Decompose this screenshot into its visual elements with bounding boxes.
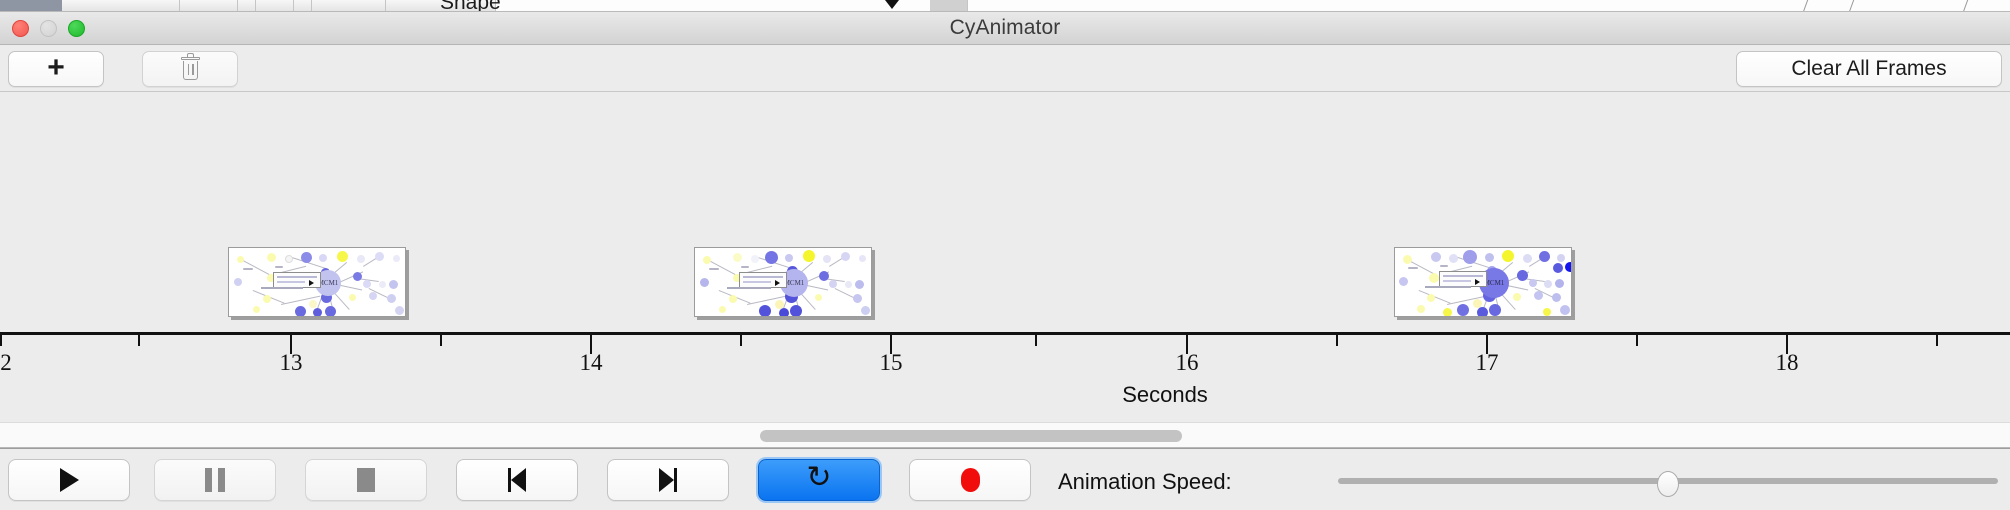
pause-button[interactable] xyxy=(154,459,276,501)
record-button[interactable] xyxy=(909,459,1031,501)
background-window-chrome xyxy=(0,0,62,11)
timeline-frame-thumbnail[interactable]: MCM1 xyxy=(694,247,872,317)
axis-tick-minor xyxy=(0,335,2,346)
playback-controls: ↻ Animation Speed: xyxy=(0,448,2010,510)
record-icon xyxy=(961,468,980,492)
network-thumbnail: MCM1 xyxy=(1395,248,1571,316)
axis-tick-minor xyxy=(1636,335,1638,346)
toolbar: + Clear All Frames xyxy=(0,45,2010,92)
skip-forward-icon xyxy=(659,468,677,492)
network-thumbnail: MCM1 xyxy=(229,248,405,316)
background-tab xyxy=(312,0,386,12)
animation-speed-label: Animation Speed: xyxy=(1058,469,1232,495)
trash-icon xyxy=(181,57,200,81)
axis-label: 13 xyxy=(280,350,303,376)
delete-frame-button[interactable] xyxy=(142,51,238,87)
stop-icon xyxy=(357,468,375,492)
timeline-axis-line xyxy=(0,332,2010,335)
plus-icon: + xyxy=(47,53,65,83)
background-tab xyxy=(62,0,180,12)
background-tab xyxy=(930,0,968,12)
axis-tick-minor xyxy=(138,335,140,346)
cyanimator-window: CyAnimator + Clear All Frames xyxy=(0,12,2010,510)
background-tab xyxy=(256,0,294,12)
clear-all-frames-button[interactable]: Clear All Frames xyxy=(1736,51,2002,87)
axis-label: 2 xyxy=(0,350,12,376)
axis-label: 15 xyxy=(880,350,903,376)
play-button[interactable] xyxy=(8,459,130,501)
axis-title: Seconds xyxy=(1122,382,1208,408)
axis-tick-minor xyxy=(740,335,742,346)
minimize-button[interactable] xyxy=(40,20,57,37)
play-icon xyxy=(60,468,79,492)
pause-icon xyxy=(205,468,225,492)
background-divider xyxy=(1800,0,1812,12)
stop-button[interactable] xyxy=(305,459,427,501)
background-caret-icon xyxy=(885,0,899,9)
window-controls xyxy=(12,20,85,37)
background-divider xyxy=(1960,0,1972,12)
axis-tick-minor xyxy=(1936,335,1938,346)
network-thumbnail: MCM1 xyxy=(695,248,871,316)
axis-tick-minor xyxy=(440,335,442,346)
background-tab xyxy=(180,0,238,12)
next-frame-button[interactable] xyxy=(607,459,729,501)
timeline-horizontal-scrollbar[interactable] xyxy=(0,422,2010,448)
background-desktop-strip: Shape xyxy=(0,0,2010,12)
axis-tick-minor xyxy=(1035,335,1037,346)
loop-button[interactable]: ↻ xyxy=(758,459,880,501)
previous-frame-button[interactable] xyxy=(456,459,578,501)
background-tab xyxy=(294,0,312,12)
skip-backward-icon xyxy=(508,468,526,492)
axis-label: 16 xyxy=(1176,350,1199,376)
timeline-panel[interactable]: MCM1 xyxy=(0,92,2010,422)
add-frame-button[interactable]: + xyxy=(8,51,104,87)
titlebar: CyAnimator xyxy=(0,12,2010,45)
close-button[interactable] xyxy=(12,20,29,37)
window-title: CyAnimator xyxy=(950,16,1061,40)
timeline-frame-thumbnail[interactable]: MCM1 xyxy=(228,247,406,317)
axis-label: 18 xyxy=(1776,350,1799,376)
background-shape-label: Shape xyxy=(440,0,501,12)
maximize-button[interactable] xyxy=(68,20,85,37)
scrollbar-thumb[interactable] xyxy=(760,430,1182,442)
background-divider xyxy=(1846,0,1858,12)
background-tab xyxy=(238,0,256,12)
axis-label: 14 xyxy=(580,350,603,376)
timeline-frame-thumbnail[interactable]: MCM1 xyxy=(1394,247,1572,317)
loop-icon: ↻ xyxy=(806,463,831,493)
animation-speed-slider-thumb[interactable] xyxy=(1657,471,1679,497)
axis-tick-minor xyxy=(1336,335,1338,346)
axis-label: 17 xyxy=(1476,350,1499,376)
